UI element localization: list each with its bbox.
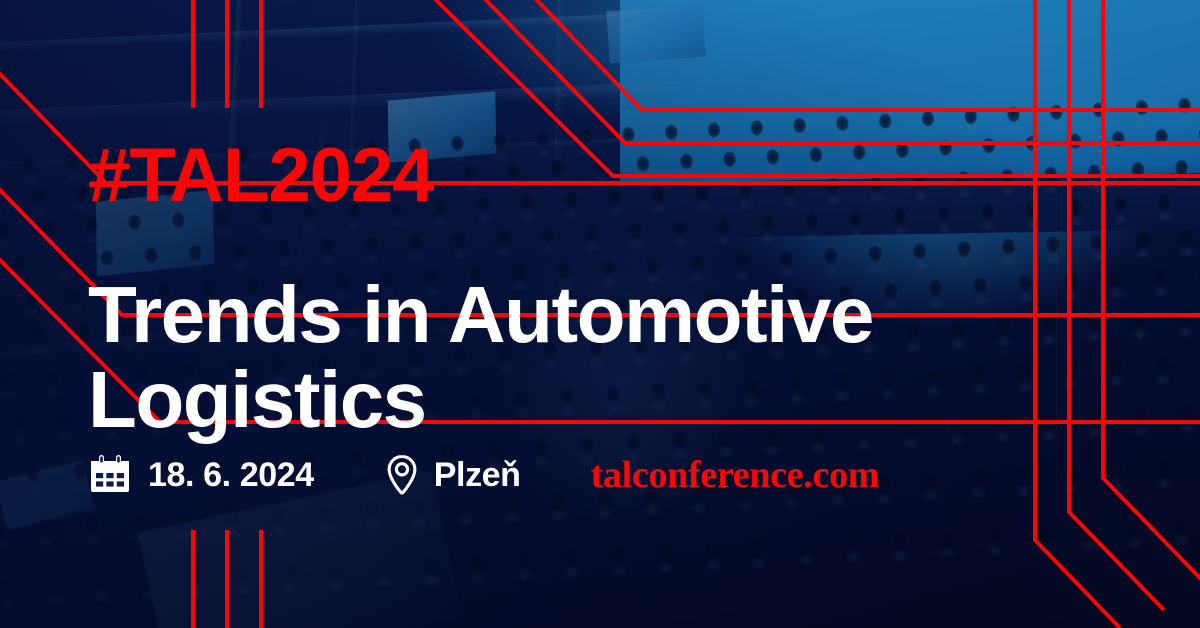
website-link[interactable]: talconference.com bbox=[591, 453, 880, 497]
title-line-2: Logistics bbox=[88, 357, 873, 443]
event-date: 18. 6. 2024 bbox=[88, 453, 314, 497]
calendar-icon bbox=[88, 453, 132, 497]
event-location: Plzeň bbox=[382, 453, 521, 497]
page-title: Trends in Automotive Logistics bbox=[88, 272, 873, 443]
event-hashtag: #TAL2024 bbox=[88, 138, 433, 214]
event-details-bar: 18. 6. 2024 Plzeň talconference.com bbox=[88, 442, 879, 508]
event-location-text: Plzeň bbox=[434, 456, 521, 495]
title-line-1: Trends in Automotive bbox=[88, 270, 873, 359]
map-pin-icon bbox=[382, 453, 422, 497]
conference-banner: #TAL2024 Trends in Automotive Logistics bbox=[0, 0, 1200, 628]
event-date-text: 18. 6. 2024 bbox=[148, 456, 314, 495]
banner-content: #TAL2024 Trends in Automotive Logistics bbox=[0, 0, 1200, 628]
